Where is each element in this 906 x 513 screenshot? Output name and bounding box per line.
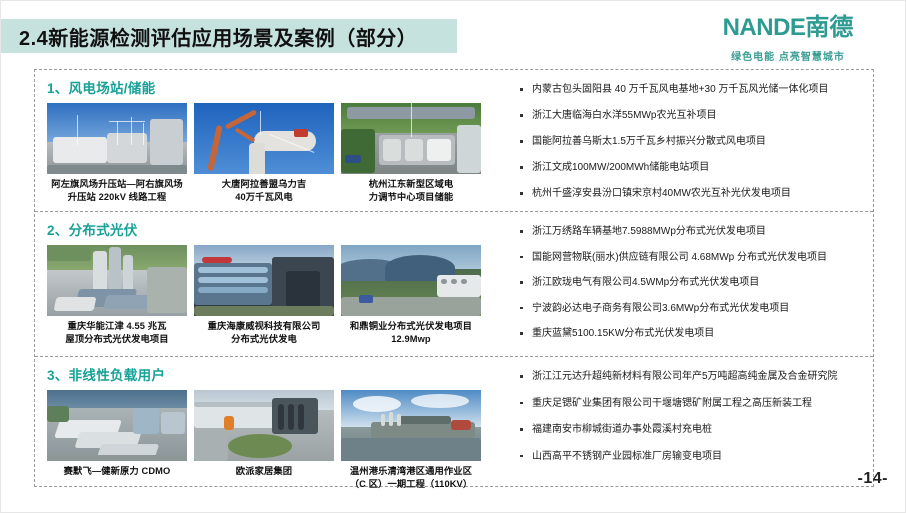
case-card[interactable]: 赛默飞—健新原力 CDMO: [47, 390, 187, 490]
logo-wordmark-en: NANDE: [723, 14, 806, 41]
logo-wordmark: NANDE南德: [693, 15, 883, 41]
bullet-item: 重庆蓝黛5100.15KW分布式光伏发电项目: [518, 327, 873, 341]
industrial-rooftop-pv-aerial-photo: [47, 245, 187, 316]
bullet-item: 国能阿拉善乌斯太1.5万千瓦乡村振兴分散式风电项目: [518, 135, 873, 149]
hedding-copper-plant-photo: [341, 245, 481, 316]
case-card[interactable]: 欧派家居集团: [194, 390, 334, 490]
logo-wordmark-cn: 南德: [805, 14, 853, 41]
case-caption: 杭州江东新型区域电 力调节中心项目储能: [341, 178, 481, 203]
bullet-item: 浙江江元达升超纯新材料有限公司年产5万吨超高纯金属及合金研究院: [518, 370, 873, 384]
bullet-item: 宁波韵必达电子商务有限公司3.6MWp分布式光伏发电项目: [518, 302, 873, 316]
case-card[interactable]: 杭州江东新型区域电 力调节中心项目储能: [341, 103, 481, 203]
section-2-heading: 2、分布式光伏: [47, 219, 492, 239]
wind-turbine-nacelle-photo: [194, 103, 334, 174]
case-card[interactable]: 温州港乐清湾港区通用作业区 （C 区）一期工程（110KV）: [341, 390, 481, 490]
bullet-list: 浙江万绣路车辆基地7.5988MWp分布式光伏发电项目 国能网营物联(丽水)供应…: [518, 225, 873, 341]
bullet-item: 重庆足锶矿业集团有限公司干堰塘锶矿附属工程之高压新装工程: [518, 397, 873, 411]
wenzhou-port-photo: [341, 390, 481, 461]
section-2-bullets: 浙江万绣路车辆基地7.5988MWp分布式光伏发电项目 国能网营物联(丽水)供应…: [492, 212, 873, 356]
section-2-gallery: 2、分布式光伏: [35, 212, 492, 356]
case-caption: 欧派家居集团: [194, 465, 334, 478]
content-frame: 1、风电场站/储能: [34, 69, 874, 487]
section-wind-storage: 1、风电场站/储能: [35, 70, 873, 211]
company-logo: NANDE南德 绿色电能 点亮智慧城市: [693, 15, 883, 63]
section-2-card-row: 重庆华能江津 4.55 兆瓦 屋顶分布式光伏发电项目: [47, 245, 492, 345]
bullet-item: 福建南安市柳城街道办事处霞溪村充电桩: [518, 423, 873, 437]
case-caption: 温州港乐清湾港区通用作业区 （C 区）一期工程（110KV）: [341, 465, 481, 490]
slide-canvas: 2.4新能源检测评估应用场景及案例（部分） NANDE南德 绿色电能 点亮智慧城…: [0, 0, 906, 513]
case-caption: 重庆华能江津 4.55 兆瓦 屋顶分布式光伏发电项目: [47, 320, 187, 345]
case-card[interactable]: 阿左旗风场升压站—阿右旗风场 升压站 220kV 线路工程: [47, 103, 187, 203]
section-1-gallery: 1、风电场站/储能: [35, 70, 492, 211]
section-3-heading: 3、非线性负载用户: [47, 364, 492, 384]
wind-substation-photo: [47, 103, 187, 174]
pharma-campus-aerial-photo: [47, 390, 187, 461]
bullet-list: 内蒙古包头固阳县 40 万千瓦风电基地+30 万千瓦风光储一体化项目 浙江大唐临…: [518, 83, 873, 201]
section-1-card-row: 阿左旗风场升压站—阿右旗风场 升压站 220kV 线路工程: [47, 103, 492, 203]
case-caption: 和鼎铜业分布式光伏发电项目 12.9Mwp: [341, 320, 481, 345]
case-caption: 阿左旗风场升压站—阿右旗风场 升压站 220kV 线路工程: [47, 178, 187, 203]
bullet-item: 浙江万绣路车辆基地7.5988MWp分布式光伏发电项目: [518, 225, 873, 239]
bullet-list: 浙江江元达升超纯新材料有限公司年产5万吨超高纯金属及合金研究院 重庆足锶矿业集团…: [518, 370, 873, 463]
bullet-item: 内蒙古包头固阳县 40 万千瓦风电基地+30 万千瓦风光储一体化项目: [518, 83, 873, 97]
hikvision-office-building-photo: [194, 245, 334, 316]
bullet-item: 浙江欧珑电气有限公司4.5WMp分布式光伏发电项目: [518, 276, 873, 290]
case-card[interactable]: 大唐阿拉善盟乌力吉 40万千瓦风电: [194, 103, 334, 203]
section-1-heading: 1、风电场站/储能: [47, 77, 492, 97]
bullet-item: 杭州千盛淳安县汾口镇宋京村40MW农光互补光伏发电项目: [518, 187, 873, 201]
slide-title-bar: 2.4新能源检测评估应用场景及案例（部分）: [1, 19, 457, 53]
section-distributed-pv: 2、分布式光伏: [35, 211, 873, 356]
section-nonlinear-load: 3、非线性负载用户 赛默飞—健新原力 CD: [35, 356, 873, 487]
case-caption: 大唐阿拉善盟乌力吉 40万千瓦风电: [194, 178, 334, 203]
case-caption: 重庆海康威视科技有限公司 分布式光伏发电: [194, 320, 334, 345]
bullet-item: 浙江大唐临海白水洋55MWp农光互补项目: [518, 109, 873, 123]
section-3-card-row: 赛默飞—健新原力 CDMO: [47, 390, 492, 490]
case-card[interactable]: 和鼎铜业分布式光伏发电项目 12.9Mwp: [341, 245, 481, 345]
section-3-bullets: 浙江江元达升超纯新材料有限公司年产5万吨超高纯金属及合金研究院 重庆足锶矿业集团…: [492, 357, 873, 487]
page-number: -14-: [858, 470, 888, 488]
case-card[interactable]: 重庆华能江津 4.55 兆瓦 屋顶分布式光伏发电项目: [47, 245, 187, 345]
case-caption: 赛默飞—健新原力 CDMO: [47, 465, 187, 478]
bullet-item: 山西高平不锈钢产业园标准厂房输变电项目: [518, 450, 873, 464]
energy-storage-aerial-photo: [341, 103, 481, 174]
logo-tagline: 绿色电能 点亮智慧城市: [693, 48, 883, 63]
bullet-item: 浙江文成100MW/200MWh储能电站项目: [518, 161, 873, 175]
bullet-item: 国能网营物联(丽水)供应链有限公司 4.68MWp 分布式光伏发电项目: [518, 251, 873, 265]
section-3-gallery: 3、非线性负载用户 赛默飞—健新原力 CD: [35, 357, 492, 487]
case-card[interactable]: 重庆海康威视科技有限公司 分布式光伏发电: [194, 245, 334, 345]
section-1-bullets: 内蒙古包头固阳县 40 万千瓦风电基地+30 万千瓦风光储一体化项目 浙江大唐临…: [492, 70, 873, 211]
page-title: 2.4新能源检测评估应用场景及案例（部分）: [19, 22, 417, 51]
oppein-factory-photo: [194, 390, 334, 461]
